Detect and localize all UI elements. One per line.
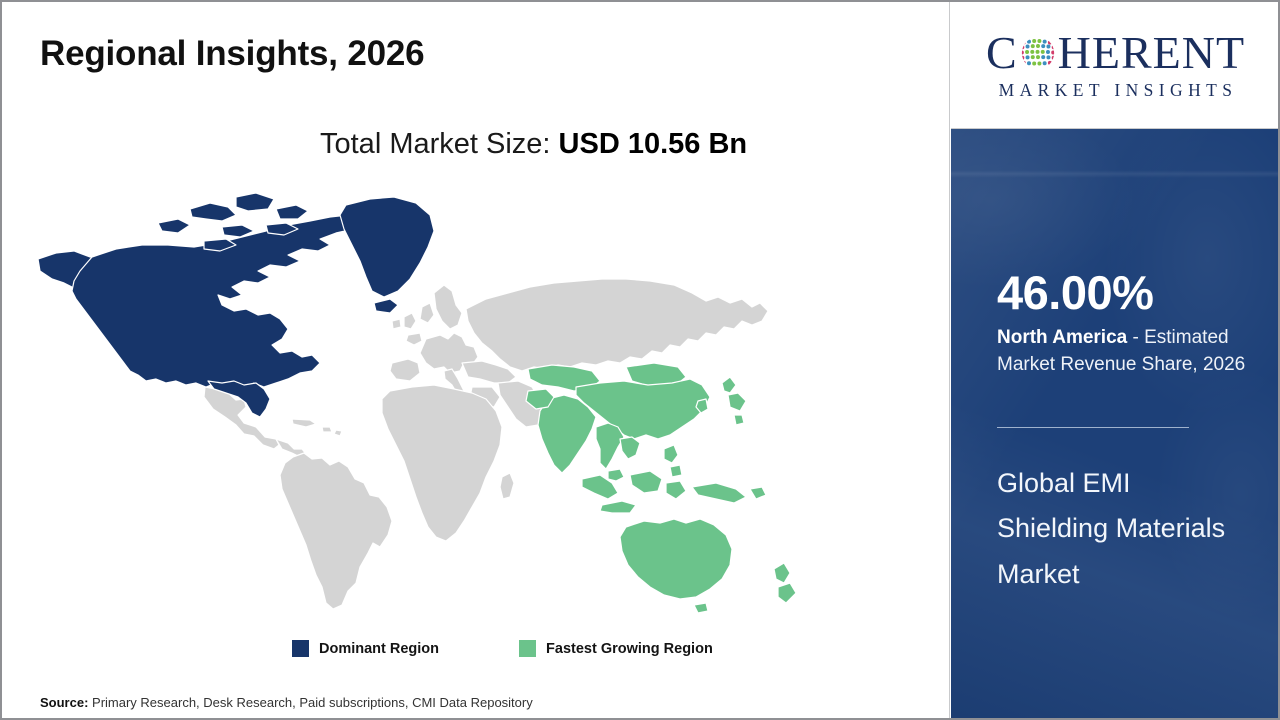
subtitle-value: USD 10.56 Bn: [559, 128, 748, 160]
total-market-size-subtitle: Total Market Size: USD 10.56 Bn: [320, 128, 747, 161]
logo-letter-c: C: [986, 30, 1018, 76]
square-swatch-icon: [292, 640, 309, 657]
left-content-area: Regional Insights, 2026 Total Market Siz…: [2, 2, 950, 718]
subtitle-prefix: Total Market Size:: [320, 128, 559, 160]
map-region-north-america: [38, 193, 434, 417]
page-title: Regional Insights, 2026: [40, 34, 424, 74]
world-map-svg: [30, 187, 830, 617]
market-title: Global EMI Shielding Materials Market: [997, 461, 1237, 597]
right-panel: C: [951, 2, 1280, 718]
map-region-asia-pacific: [526, 363, 796, 613]
legend-item-fastest-growing: Fastest Growing Region: [519, 640, 713, 657]
logo-tagline: MARKET INSIGHTS: [994, 80, 1238, 101]
region-name: North America: [997, 327, 1127, 348]
legend-label-fastest-growing: Fastest Growing Region: [546, 641, 713, 657]
source-text: Primary Research, Desk Research, Paid su…: [88, 695, 532, 710]
source-label: Source:: [40, 695, 88, 710]
panel-texture-four: [951, 129, 1280, 718]
source-note: Source: Primary Research, Desk Research,…: [40, 695, 533, 710]
world-map: [30, 187, 830, 617]
revenue-share-description: North America - Estimated Market Revenue…: [997, 325, 1261, 379]
stat-panel: 46.00% North America - Estimated Market …: [951, 129, 1280, 718]
globe-dots-icon: [1019, 34, 1057, 76]
infographic-frame: Regional Insights, 2026 Total Market Siz…: [0, 0, 1280, 720]
panel-texture-two: [951, 129, 1280, 718]
panel-texture-three: [951, 129, 1280, 718]
divider-rule: [997, 427, 1189, 428]
brand-logo: C: [951, 2, 1280, 129]
legend-item-dominant: Dominant Region: [292, 640, 439, 657]
legend-label-dominant: Dominant Region: [319, 641, 439, 657]
map-legend: Dominant Region Fastest Growing Region: [292, 640, 713, 657]
panel-texture-one: [951, 129, 1280, 718]
revenue-share-percentage: 46.00%: [997, 269, 1153, 316]
logo-word-herent: HERENT: [1058, 30, 1245, 76]
logo-wordmark: C: [986, 30, 1245, 76]
square-swatch-icon: [519, 640, 536, 657]
